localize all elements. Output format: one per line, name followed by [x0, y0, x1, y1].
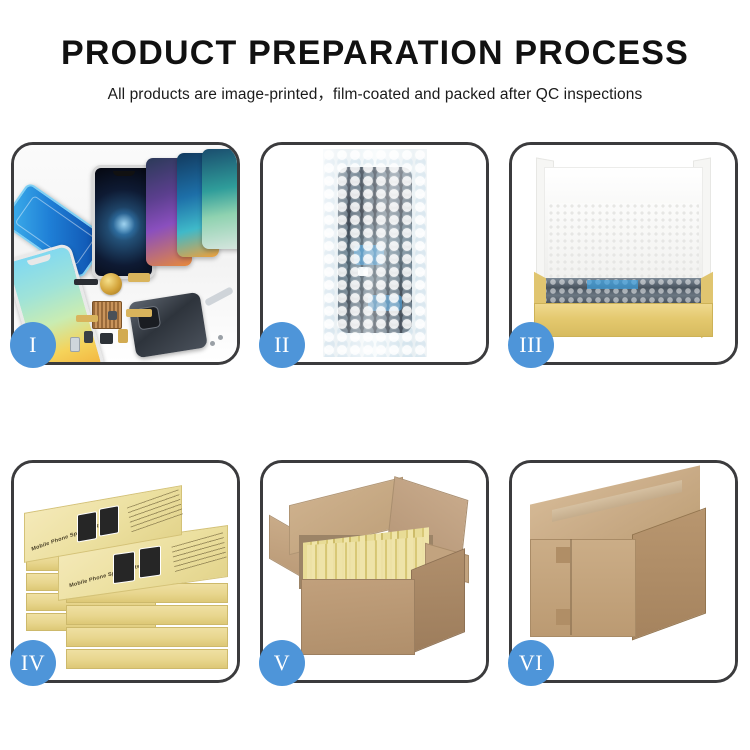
product-preparation-page: PRODUCT PREPARATION PROCESS All products…	[0, 0, 750, 750]
small-part-icon-1	[84, 331, 93, 343]
stacked-box-edge-6	[66, 605, 228, 625]
printed-box-stack-icon: Mobile Phone Spare Parts Mobile Phone Sp…	[22, 481, 234, 671]
box-screen-graphic-4	[99, 505, 119, 537]
phone-chassis-icon	[128, 292, 208, 359]
page-header: PRODUCT PREPARATION PROCESS All products…	[0, 0, 750, 104]
sealed-carton-front	[530, 539, 636, 637]
small-part-icon-4	[70, 337, 80, 352]
plastic-sheen	[323, 149, 427, 357]
flex-cable-icon-2	[126, 309, 152, 317]
wrapped-items-icon	[540, 278, 709, 306]
teal-phone-icon	[202, 149, 237, 249]
step-badge-5: V	[259, 640, 305, 686]
step-panel-6[interactable]: VI	[509, 460, 738, 683]
step-badge-1: I	[10, 322, 56, 368]
box-screen-graphic-1	[113, 551, 135, 584]
step-badge-4: IV	[10, 640, 56, 686]
carton-handle-notch-top	[556, 547, 570, 563]
small-part-icon-3	[118, 329, 128, 343]
step-panel-5[interactable]: V	[260, 460, 489, 683]
page-subtitle: All products are image-printed，film-coat…	[0, 72, 750, 104]
carton-handle-notch-bottom	[556, 609, 570, 625]
step-badge-6: VI	[508, 640, 554, 686]
screw-icon-1	[210, 341, 215, 346]
flex-cable-icon-3	[76, 315, 98, 322]
small-part-icon-2	[100, 333, 113, 344]
carton-seam	[570, 539, 572, 635]
page-title: PRODUCT PREPARATION PROCESS	[0, 0, 750, 72]
process-steps-grid: I II	[11, 142, 739, 683]
kraft-inner-box-front	[534, 303, 713, 337]
screw-icon-2	[218, 335, 223, 340]
carton-front-panel	[301, 579, 415, 655]
step-panel-3[interactable]: III	[509, 142, 738, 365]
step-panel-2[interactable]: II	[260, 142, 489, 365]
box-text-lines-front	[171, 532, 226, 572]
flex-cable-icon-1	[128, 273, 150, 282]
step-badge-3: III	[508, 322, 554, 368]
step-badge-2: II	[259, 322, 305, 368]
tool-icon	[204, 286, 234, 306]
box-screen-graphic-2	[139, 545, 161, 578]
gold-coil-icon	[100, 273, 122, 295]
stacked-box-edge-8	[66, 649, 228, 669]
step-panel-4[interactable]: Mobile Phone Spare Parts Mobile Phone Sp…	[11, 460, 240, 683]
small-part-icon-5	[108, 311, 117, 320]
step-panel-1[interactable]: I	[11, 142, 240, 365]
white-foam-liner-icon	[548, 203, 699, 285]
box-screen-graphic-3	[77, 511, 97, 543]
box-text-lines-back	[127, 489, 183, 532]
speaker-bar-icon	[74, 279, 98, 285]
stacked-box-edge-7	[66, 627, 228, 647]
